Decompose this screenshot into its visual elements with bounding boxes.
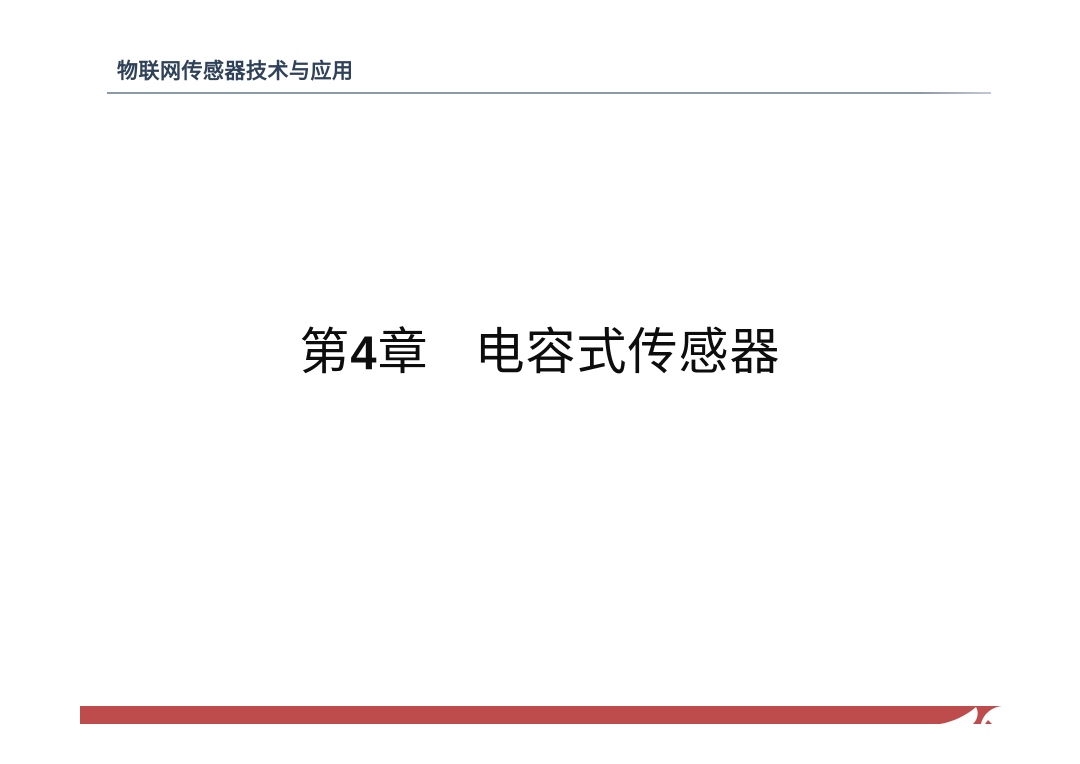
chapter-title-block: 第4章电容式传感器 (0, 320, 1080, 385)
footer-accent-bar (80, 706, 1002, 724)
footer-bar-graphic (80, 706, 1002, 724)
footer-bar-rect (80, 706, 1002, 724)
header-divider-rule (107, 92, 991, 94)
slide-canvas: 物联网传感器技术与应用 第4章电容式传感器 (0, 0, 1080, 764)
chapter-number-label: 4 (350, 326, 377, 379)
chapter-topic-label: 电容式传感器 (475, 324, 781, 380)
chapter-suffix-label: 章 (378, 324, 429, 380)
chapter-title: 第4章电容式传感器 (299, 320, 780, 385)
chapter-prefix-label: 第 (299, 324, 350, 380)
slide-header-title: 物联网传感器技术与应用 (117, 59, 354, 85)
